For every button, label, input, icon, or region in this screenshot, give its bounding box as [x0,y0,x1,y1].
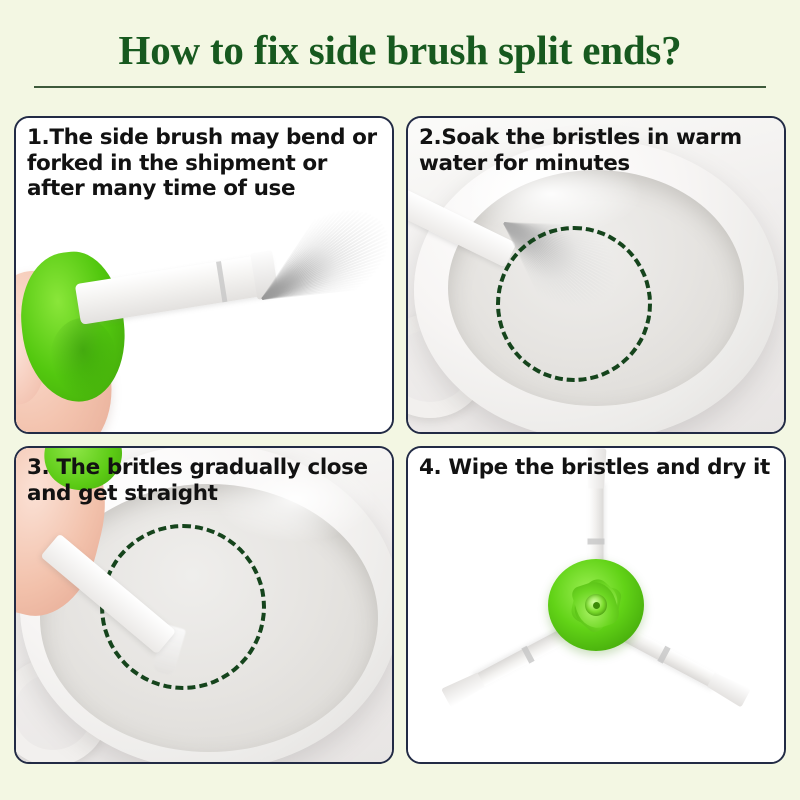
step-panel-3: 3. The britles gradually close and get s… [14,446,394,764]
step-panel-1: 1.The side brush may bend or forked in t… [14,116,394,434]
hub-center-screw [593,602,600,609]
green-hub-shading [50,318,116,398]
step-panel-4: 4. Wipe the bristles and dry it [406,446,786,764]
steps-grid: 1.The side brush may bend or forked in t… [14,116,786,788]
brush-arm-band [521,646,534,664]
side-brush-assembly [408,448,784,762]
page-title-wrap: How to fix side brush split ends? [0,26,800,78]
step-4-caption: 4. Wipe the bristles and dry it [419,455,776,481]
brush-arm-band [657,646,670,664]
brush-arm-band [588,539,605,545]
hub-center-boss [585,594,607,616]
step-2-caption: 2.Soak the bristles in warm water for mi… [419,125,776,176]
highlight-circle [496,226,652,382]
brush-arm [75,253,277,324]
infographic-page: How to fix side brush split ends? 1.The … [0,0,800,800]
step-panel-2: 2.Soak the bristles in warm water for mi… [406,116,786,434]
step-1-caption: 1.The side brush may bend or forked in t… [27,125,384,202]
page-title: How to fix side brush split ends? [113,26,688,78]
step-3-caption: 3. The britles gradually close and get s… [27,455,384,506]
title-underline [34,86,766,88]
brush-arm-seam [216,261,227,302]
step-4-photo [408,448,784,762]
